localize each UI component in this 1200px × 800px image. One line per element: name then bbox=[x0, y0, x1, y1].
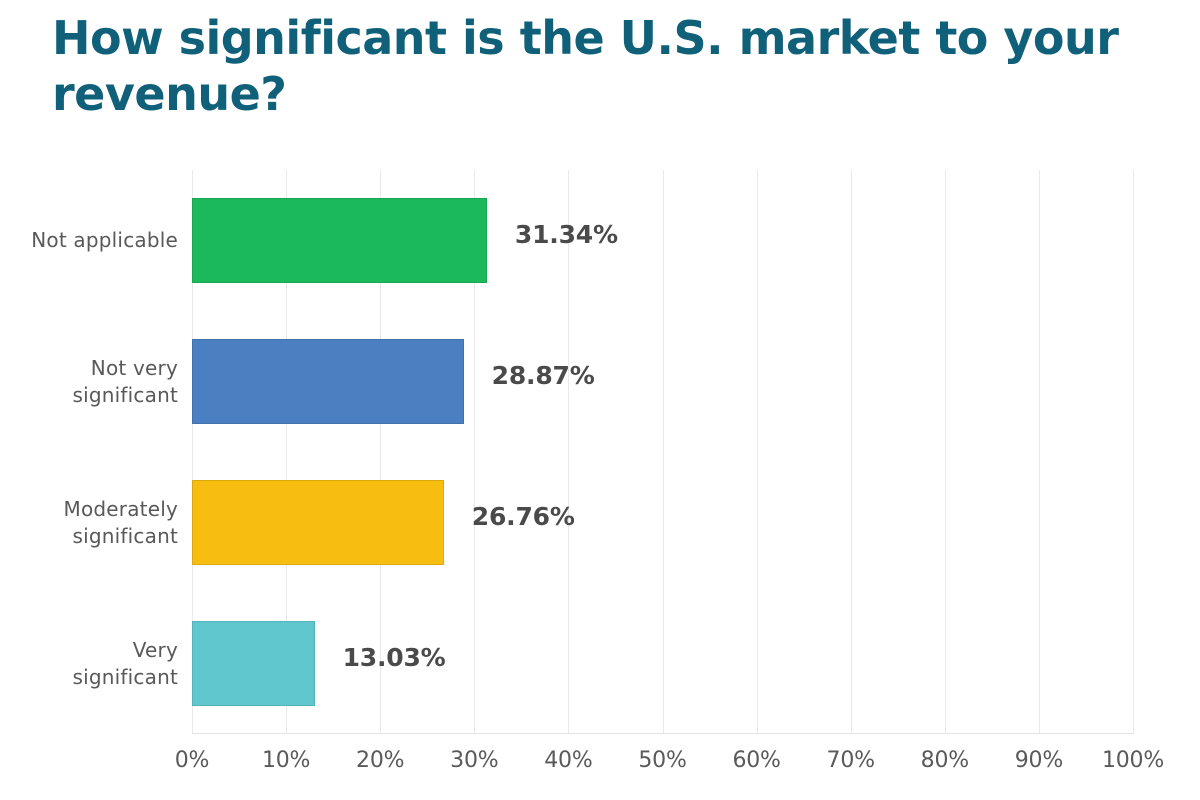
y-axis-tick-label-3: Very significant bbox=[73, 637, 178, 691]
gridline-60% bbox=[757, 170, 758, 733]
x-axis-line bbox=[192, 733, 1134, 734]
gridline-90% bbox=[1039, 170, 1040, 733]
y-axis-tick-label-0: Not applicable bbox=[31, 227, 178, 254]
x-axis-tick-label-40%: 40% bbox=[544, 748, 592, 773]
chart-title: How significant is the U.S. market to yo… bbox=[52, 10, 1172, 122]
x-axis-tick-label-30%: 30% bbox=[450, 748, 498, 773]
x-axis-tick-label-90%: 90% bbox=[1015, 748, 1063, 773]
x-axis-ticks: 0%10%20%30%40%50%60%70%80%90%100% bbox=[0, 748, 1200, 788]
y-axis-tick-0: Not applicable bbox=[0, 170, 184, 311]
bar-not-very-significant[interactable] bbox=[192, 339, 464, 424]
y-axis-labels: Not applicable Not very significant Mode… bbox=[0, 170, 184, 733]
bar-not-applicable[interactable] bbox=[192, 198, 487, 283]
bar-value-label-0: 31.34% bbox=[515, 220, 618, 249]
bar-value-label-1: 28.87% bbox=[492, 361, 595, 390]
plot-area: 31.34% 28.87% 26.76% 13.03% bbox=[192, 170, 1133, 733]
bar-moderately-significant[interactable] bbox=[192, 480, 444, 565]
gridline-80% bbox=[945, 170, 946, 733]
x-axis-tick-label-0%: 0% bbox=[175, 748, 210, 773]
y-axis-tick-1: Not very significant bbox=[0, 311, 184, 452]
gridline-40% bbox=[568, 170, 569, 733]
x-axis-tick-label-70%: 70% bbox=[827, 748, 875, 773]
chart-container: How significant is the U.S. market to yo… bbox=[0, 0, 1200, 800]
bar-value-label-3: 13.03% bbox=[343, 643, 446, 672]
bar-value-label-2: 26.76% bbox=[472, 502, 575, 531]
y-axis-tick-2: Moderately significant bbox=[0, 452, 184, 593]
gridline-70% bbox=[851, 170, 852, 733]
gridline-100% bbox=[1133, 170, 1134, 733]
x-axis-tick-label-50%: 50% bbox=[638, 748, 686, 773]
x-axis-tick-label-10%: 10% bbox=[262, 748, 310, 773]
gridline-50% bbox=[663, 170, 664, 733]
x-axis-tick-label-20%: 20% bbox=[356, 748, 404, 773]
y-axis-tick-label-1: Not very significant bbox=[73, 355, 178, 409]
y-axis-tick-3: Very significant bbox=[0, 593, 184, 734]
bar-very-significant[interactable] bbox=[192, 621, 315, 706]
x-axis-tick-label-60%: 60% bbox=[732, 748, 780, 773]
x-axis-tick-label-80%: 80% bbox=[921, 748, 969, 773]
x-axis-tick-label-100%: 100% bbox=[1102, 748, 1164, 773]
y-axis-tick-label-2: Moderately significant bbox=[63, 496, 178, 550]
